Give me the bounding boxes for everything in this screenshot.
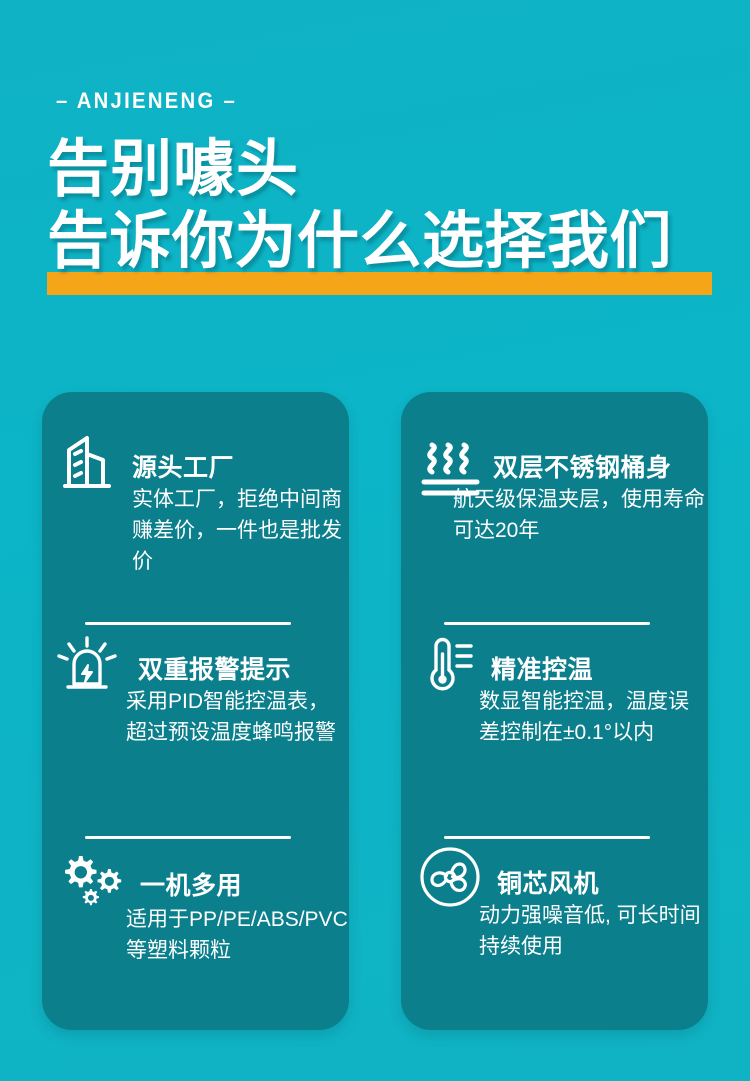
feature-card-left: 源头工厂 实体工厂，拒绝中间商赚差价，一件也是批发价 双重报警提示 采用PID智… [42,392,349,1030]
feature-title: 精准控温 [491,650,593,686]
feature-description: 适用于PP/PE/ABS/PVC等塑料颗粒 [126,904,348,966]
feature-title: 双层不锈钢桶身 [493,448,672,484]
feature-divider [85,836,291,839]
feature-item: 双层不锈钢桶身 航天级保温夹层，使用寿命可达20年 [401,426,708,624]
feature-item: 铜芯风机 动力强噪音低, 可长时间持续使用 [401,842,708,1032]
feature-card-right: 双层不锈钢桶身 航天级保温夹层，使用寿命可达20年 精准控温 数显智能控温，温度… [401,392,708,1030]
feature-item: 双重报警提示 采用PID智能控温表，超过预设温度蜂鸣报警 [42,628,349,838]
promo-page: – ANJIENENG – 告别噱头 告诉你为什么选择我们 源头工厂 实体工厂，… [0,0,750,1081]
feature-title: 铜芯风机 [497,864,599,900]
feature-item: 精准控温 数显智能控温，温度误差控制在±0.1°以内 [401,628,708,838]
gears-icon [52,850,132,910]
feature-description: 实体工厂，拒绝中间商赚差价，一件也是批发价 [132,484,348,577]
feature-description: 数显智能控温，温度误差控制在±0.1°以内 [479,686,707,748]
feature-title: 源头工厂 [132,448,234,484]
feature-title: 一机多用 [140,866,242,902]
feature-divider [444,622,650,625]
feature-title: 双重报警提示 [138,650,291,686]
headline: 告别噱头 告诉你为什么选择我们 [47,134,737,278]
feature-description: 动力强噪音低, 可长时间持续使用 [479,900,707,962]
feature-item: 源头工厂 实体工厂，拒绝中间商赚差价，一件也是批发价 [42,426,349,624]
feature-item: 一机多用 适用于PP/PE/ABS/PVC等塑料颗粒 [42,842,349,1032]
feature-description: 航天级保温夹层，使用寿命可达20年 [453,484,707,546]
feature-divider [85,622,291,625]
headline-line-1: 告别噱头 [47,134,737,206]
brand-name: – ANJIENENG – [56,88,237,114]
feature-description: 采用PID智能控温表，超过预设温度蜂鸣报警 [126,686,348,748]
alarm-light-icon [54,630,120,696]
fan-icon [417,844,483,910]
feature-divider [444,836,650,839]
thermometer-icon [419,632,485,698]
factory-building-icon [60,430,126,496]
headline-line-2: 告诉你为什么选择我们 [47,206,737,278]
